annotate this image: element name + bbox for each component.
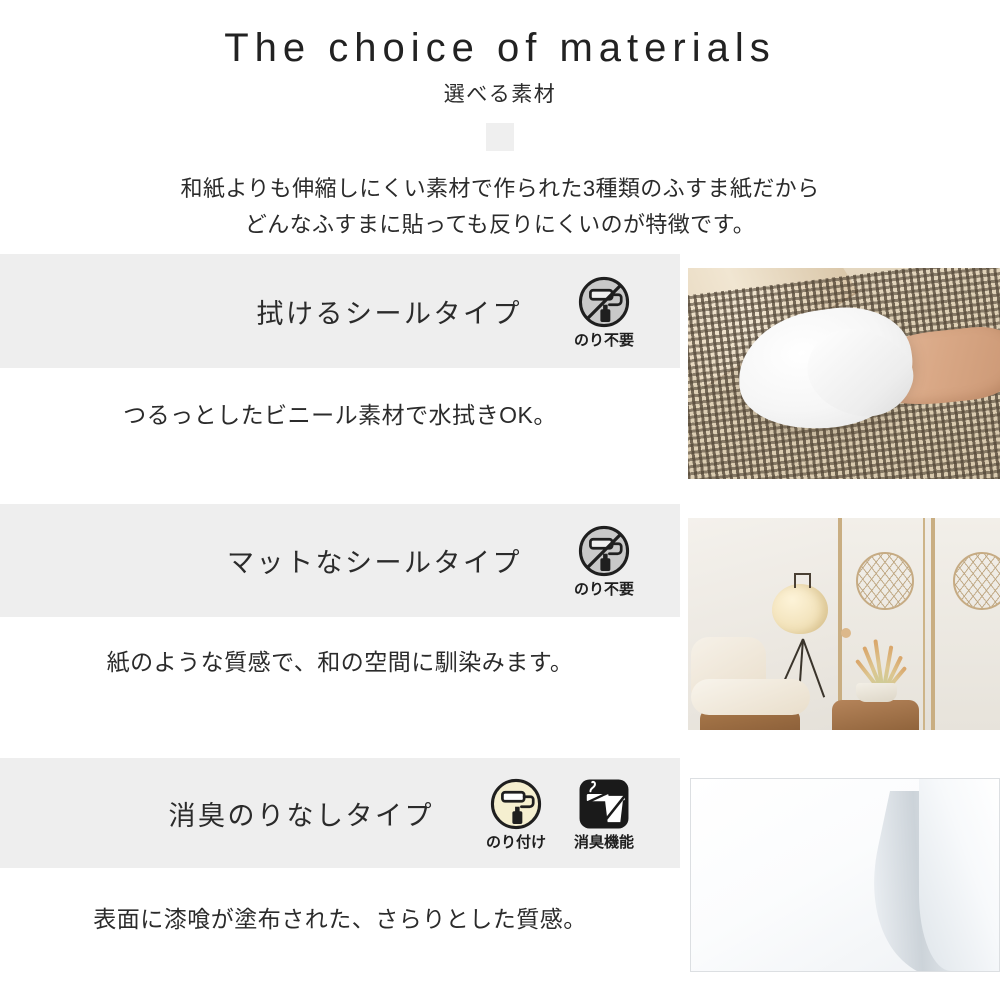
section-1-band: 拭けるシールタイプ のり不要 <box>0 254 680 368</box>
page-header: The choice of materials 選べる素材 和紙よりも伸縮しにく… <box>0 0 1000 242</box>
lead-line-2: どんなふすまに貼っても反りにくいのが特徴です。 <box>0 207 1000 243</box>
page-lead-text: 和紙よりも伸縮しにくい素材で作られた3種類のふすま紙だから どんなふすまに貼って… <box>0 151 1000 242</box>
badge-no-glue-label: のり不要 <box>574 582 634 599</box>
fusuma-panel-right <box>931 518 1000 730</box>
no-glue-roller-icon <box>575 522 633 580</box>
badge-no-glue: のり不要 <box>568 522 640 599</box>
badge-glue-applied-label: のり付け <box>486 835 546 852</box>
deodorizing-icon <box>575 775 633 833</box>
section-2-title: マットなシールタイプ <box>227 541 522 580</box>
section-2-badges: のり不要 <box>568 522 640 599</box>
section-3-caption: 表面に漆喰が塗布された、さらりとした質感。 <box>0 900 680 934</box>
circular-lattice-left <box>856 552 914 610</box>
section-1-badges: のり不要 <box>568 273 640 350</box>
ceramic-planter <box>856 683 897 702</box>
circular-lattice-right <box>953 552 1000 610</box>
page-subtitle: 選べる素材 <box>0 68 1000 105</box>
glue-roller-icon <box>487 775 545 833</box>
divider-square <box>486 123 514 151</box>
section-3-badges: のり付け 消臭機能 <box>480 775 640 852</box>
section-1-title: 拭けるシールタイプ <box>257 292 523 331</box>
page-title: The choice of materials <box>0 0 1000 68</box>
hand-wiping-woven-mat-photo <box>688 268 1000 479</box>
japanese-interior-room-photo <box>688 518 1000 730</box>
wooden-side-table <box>832 700 919 730</box>
sheet-curl-edge <box>919 779 999 971</box>
curled-white-paper-sheet-photo <box>690 778 1000 972</box>
badge-deodorizing: 消臭機能 <box>568 775 640 852</box>
armchair-seat <box>691 679 810 715</box>
badge-deodorizing-label: 消臭機能 <box>574 835 634 852</box>
paper-lantern-lamp <box>772 584 828 634</box>
material-choice-page: The choice of materials 選べる素材 和紙よりも伸縮しにく… <box>0 0 1000 1000</box>
section-3-band: 消臭のりなしタイプ のり付け <box>0 758 680 868</box>
no-glue-roller-icon <box>575 273 633 331</box>
badge-glue-applied: のり付け <box>480 775 552 852</box>
section-2-caption: 紙のような質感で、和の空間に馴染みます。 <box>0 643 680 677</box>
section-2-band: マットなシールタイプ のり不要 <box>0 504 680 617</box>
badge-no-glue-label: のり不要 <box>574 333 634 350</box>
lead-line-1: 和紙よりも伸縮しにくい素材で作られた3種類のふすま紙だから <box>0 171 1000 207</box>
section-1-caption: つるっとしたビニール素材で水拭きOK。 <box>0 396 680 430</box>
badge-no-glue: のり不要 <box>568 273 640 350</box>
section-3-title: 消臭のりなしタイプ <box>169 794 435 833</box>
